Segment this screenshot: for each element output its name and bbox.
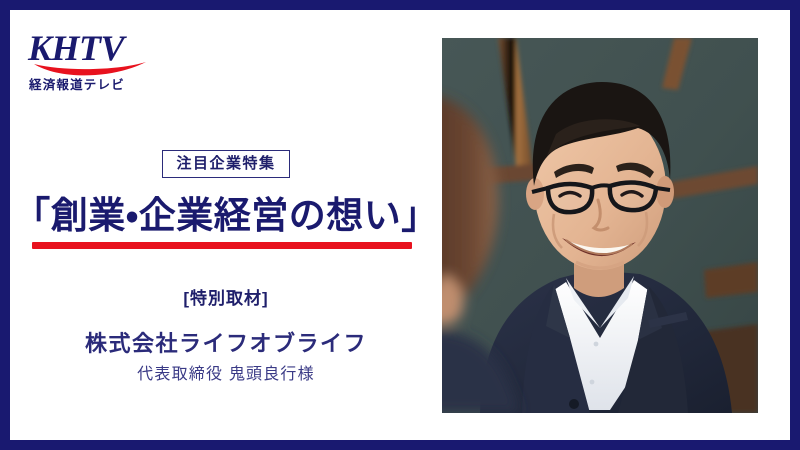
slide-frame: KHTV 経済報道テレビ 注目企業特集 「創業・企業経営の想い」 [特別取材] … <box>0 0 800 450</box>
slide-card: KHTV 経済報道テレビ 注目企業特集 「創業・企業経営の想い」 [特別取材] … <box>10 10 790 440</box>
khtv-tagline: 経済報道テレビ <box>29 74 125 93</box>
interview-photo <box>442 38 758 413</box>
feature-badge: 注目企業特集 <box>162 150 289 178</box>
company-name: 株式会社ライフオブライフ <box>10 333 442 355</box>
khtv-logo[interactable]: KHTV 経済報道テレビ <box>28 28 158 94</box>
khtv-wordmark: KHTV <box>28 28 158 72</box>
page-title: 「創業・企業経営の想い」 <box>10 192 442 240</box>
headline-block: 注目企業特集 「創業・企業経営の想い」 [特別取材] 株式会社ライフオブライフ … <box>10 150 442 383</box>
headline-underline <box>32 242 412 249</box>
special-coverage-label: [特別取材] <box>10 290 442 307</box>
interview-photo-illustration <box>442 38 758 413</box>
headline-wrap: 「創業・企業経営の想い」 <box>10 192 442 254</box>
person-title-name: 代表取締役 鬼頭良行様 <box>10 367 442 383</box>
